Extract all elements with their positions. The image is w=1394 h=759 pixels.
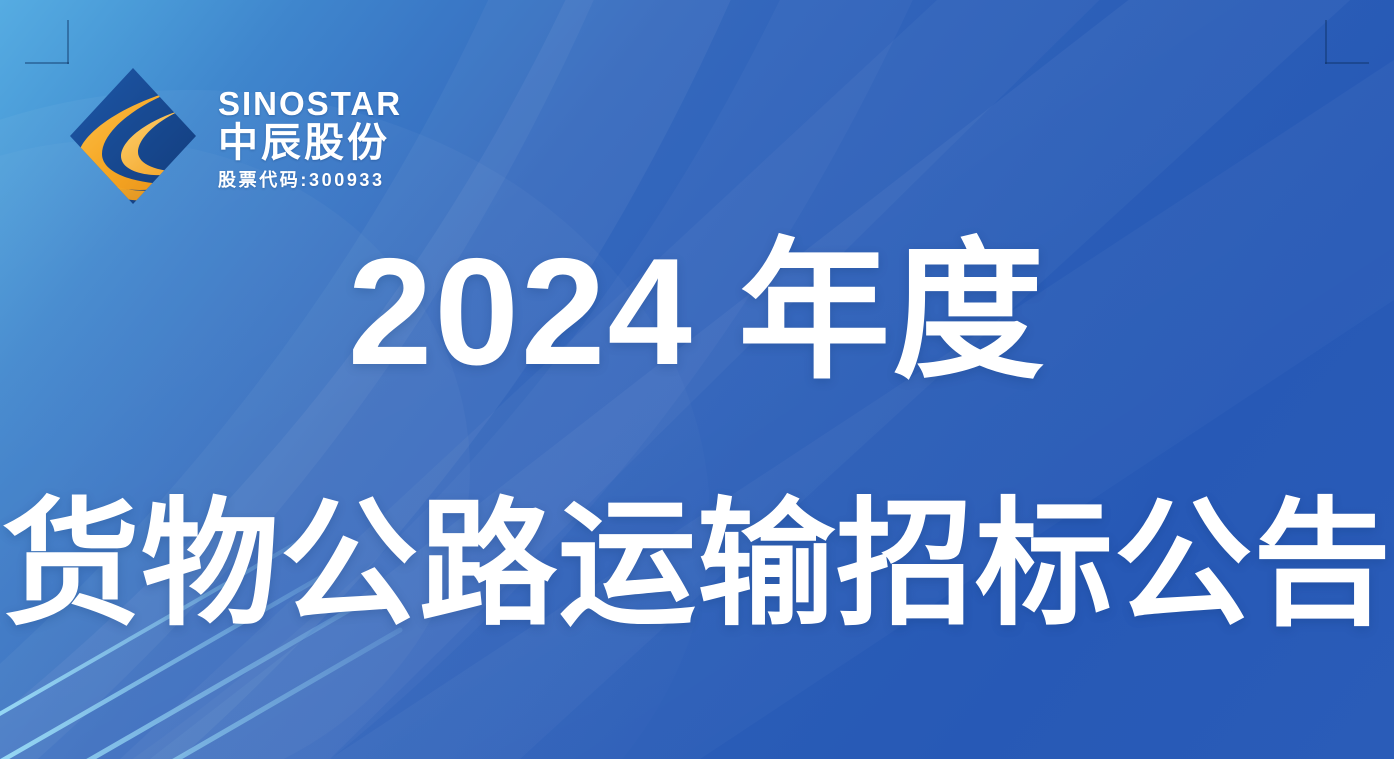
announcement-banner: SINOSTAR 中辰股份 股票代码:300933 2024 年度 货物公路运输… bbox=[0, 0, 1394, 759]
stock-code-label: 股票代码:300933 bbox=[218, 170, 402, 192]
brand-text-group: SINOSTAR 中辰股份 股票代码:300933 bbox=[218, 81, 402, 192]
brand-name-en: SINOSTAR bbox=[218, 87, 402, 120]
corner-bracket-top-right bbox=[1325, 20, 1369, 64]
brand-name-cn: 中辰股份 bbox=[218, 122, 402, 165]
title-year: 2024 年度 bbox=[0, 236, 1394, 388]
title-main: 货物公路运输招标公告 bbox=[0, 496, 1394, 634]
brand-logo-lockup: SINOSTAR 中辰股份 股票代码:300933 bbox=[64, 62, 402, 210]
headline-block: 2024 年度 货物公路运输招标公告 bbox=[0, 236, 1394, 634]
sinostar-diamond-logo-icon bbox=[64, 62, 202, 210]
corner-bracket-top-left bbox=[25, 20, 69, 64]
